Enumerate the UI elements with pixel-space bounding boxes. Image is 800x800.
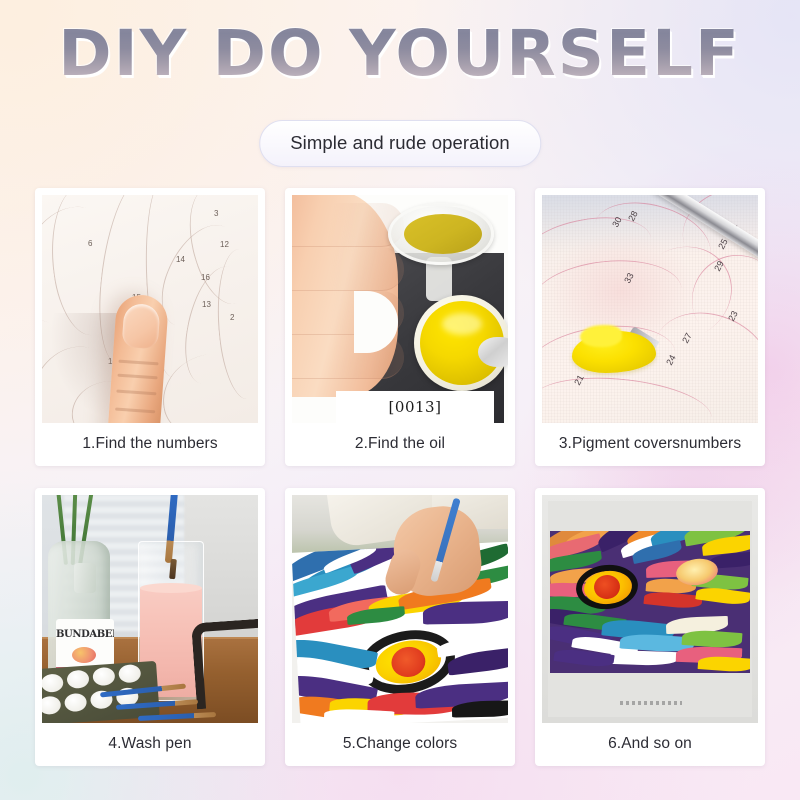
- step-card-5[interactable]: 5.Change colors: [285, 488, 515, 766]
- step-caption-1: 1.Find the numbers: [42, 423, 258, 466]
- subtitle-badge: Simple and rude operation: [259, 120, 541, 167]
- page-title: DIY DO YOURSELF: [59, 22, 742, 85]
- step-caption-6: 6.And so on: [542, 723, 758, 766]
- spoon-icon: [478, 337, 508, 367]
- step-photo-3: 30 28 11 25 29 33 23 27 24 21: [542, 195, 758, 423]
- step-caption-2: 2.Find the oil: [292, 423, 508, 466]
- step-card-1[interactable]: 3 6 12 14 16 15 13 2 1 1.Find the number…: [35, 188, 265, 466]
- step-photo-4: BUNDABERG: [42, 495, 258, 723]
- step-card-4[interactable]: BUNDABERG: [35, 488, 265, 766]
- pot-lid: [388, 203, 494, 265]
- promo-page: DIY DO YOURSELF Simple and rude operatio…: [0, 0, 800, 800]
- step-caption-3: 3.Pigment coversnumbers: [542, 423, 758, 466]
- step-card-2[interactable]: [0013] 2.Find the oil: [285, 188, 515, 466]
- step-photo-6: [542, 495, 758, 723]
- pot-label: [0013]: [336, 391, 494, 423]
- finished-artwork: [550, 531, 750, 673]
- step-card-3[interactable]: 30 28 11 25 29 33 23 27 24 21 3.Pigment …: [535, 188, 765, 466]
- steps-grid: 3 6 12 14 16 15 13 2 1 1.Find the number…: [35, 188, 765, 766]
- step-photo-5: [292, 495, 508, 723]
- step-photo-2: [0013]: [292, 195, 508, 423]
- step-caption-5: 5.Change colors: [292, 723, 508, 766]
- pointing-finger: [107, 293, 169, 423]
- bottle-brand-text: BUNDABERG: [56, 629, 114, 640]
- pot-label-text: [0013]: [389, 398, 442, 416]
- page-title-wrapper: DIY DO YOURSELF: [0, 22, 800, 85]
- step-photo-1: 3 6 12 14 16 15 13 2 1: [42, 195, 258, 423]
- step-card-6[interactable]: 6.And so on: [535, 488, 765, 766]
- drink-bottle: BUNDABERG: [48, 541, 110, 683]
- step-caption-4: 4.Wash pen: [42, 723, 258, 766]
